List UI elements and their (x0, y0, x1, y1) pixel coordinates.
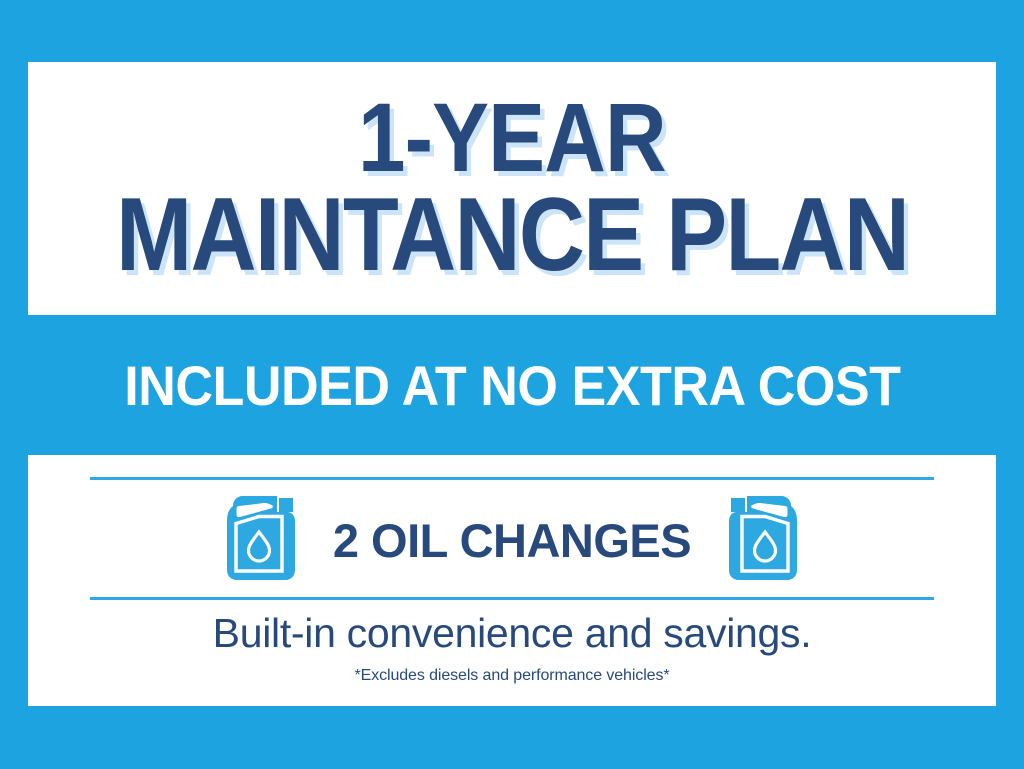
divider-top (90, 477, 934, 480)
details-card: 2 OIL CHANGES Built-in convenience and s… (28, 455, 996, 706)
subheading-band: INCLUDED AT NO EXTRA COST (0, 315, 1024, 455)
subheading-text: INCLUDED AT NO EXTRA COST (124, 353, 900, 418)
promo-poster: 1-YEAR MAINTANCE PLAN INCLUDED AT NO EXT… (0, 0, 1024, 769)
headline-line-2: MAINTANCE PLAN (116, 188, 908, 284)
fineprint-text: *Excludes diesels and performance vehicl… (28, 667, 996, 685)
headline-line-1: 1-YEAR (358, 93, 666, 182)
oil-can-icon (727, 492, 801, 589)
feature-label: 2 OIL CHANGES (333, 513, 691, 568)
feature-row: 2 OIL CHANGES (90, 485, 934, 595)
tagline-text: Built-in convenience and savings. (28, 610, 996, 657)
oil-can-icon (223, 492, 297, 589)
headline-card: 1-YEAR MAINTANCE PLAN (28, 62, 996, 315)
divider-bottom (90, 597, 934, 600)
